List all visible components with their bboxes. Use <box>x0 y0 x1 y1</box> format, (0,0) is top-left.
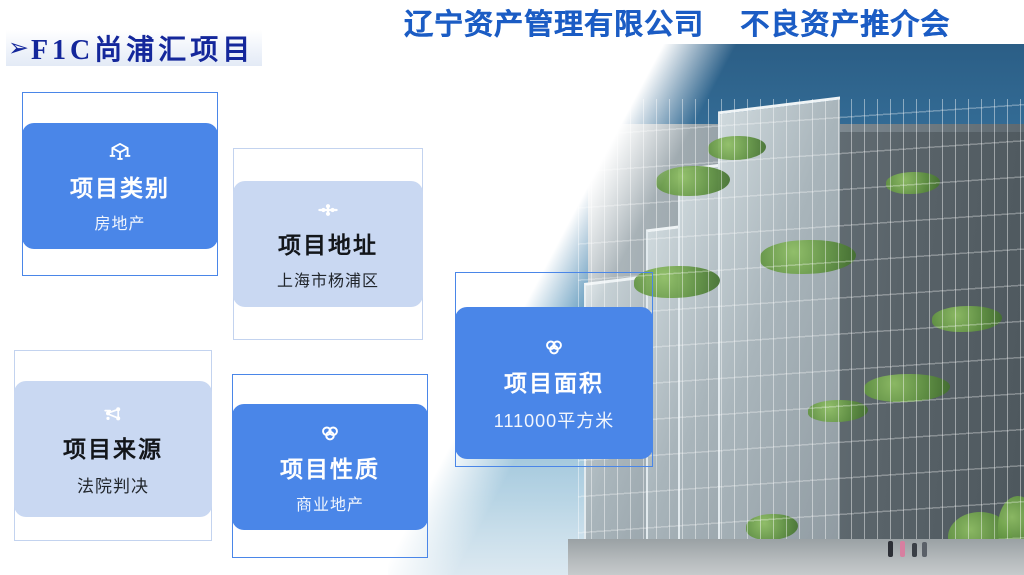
card-area-value: 111000平方米 <box>494 407 614 433</box>
card-nature-value: 商业地产 <box>296 491 364 515</box>
card-source[interactable]: 项目来源 法院判决 <box>14 381 212 517</box>
overlapping-circles-icon <box>317 420 343 446</box>
card-category-title: 项目类别 <box>70 169 170 203</box>
node-link-icon <box>316 198 340 222</box>
section-heading-label: F1C尚浦汇项目 <box>31 28 254 68</box>
card-area-title: 项目面积 <box>504 364 604 398</box>
card-category[interactable]: 项目类别 房地产 <box>22 123 218 249</box>
slide-root: 辽宁资产管理有限公司 不良资产推介会 ➢ F1C尚浦汇项目 项目类别 房地产 <box>0 0 1024 575</box>
card-source-value: 法院判决 <box>77 472 149 497</box>
card-address[interactable]: 项目地址 上海市杨浦区 <box>233 181 423 307</box>
card-address-value: 上海市杨浦区 <box>277 267 379 291</box>
bullet-arrow-icon: ➢ <box>8 36 29 61</box>
overlapping-circles-icon <box>541 334 567 360</box>
card-nature-title: 项目性质 <box>280 450 380 484</box>
slide-title: 辽宁资产管理有限公司 不良资产推介会 <box>404 1 950 43</box>
share-network-icon <box>101 402 125 426</box>
cube-icon <box>107 139 133 165</box>
card-address-title: 项目地址 <box>278 226 378 260</box>
card-area[interactable]: 项目面积 111000平方米 <box>455 307 653 459</box>
section-heading: ➢ F1C尚浦汇项目 <box>6 30 262 66</box>
slide-title-band: 辽宁资产管理有限公司 不良资产推介会 <box>330 0 1024 44</box>
card-source-title: 项目来源 <box>63 430 163 464</box>
card-category-value: 房地产 <box>94 210 145 234</box>
card-nature[interactable]: 项目性质 商业地产 <box>232 404 428 530</box>
